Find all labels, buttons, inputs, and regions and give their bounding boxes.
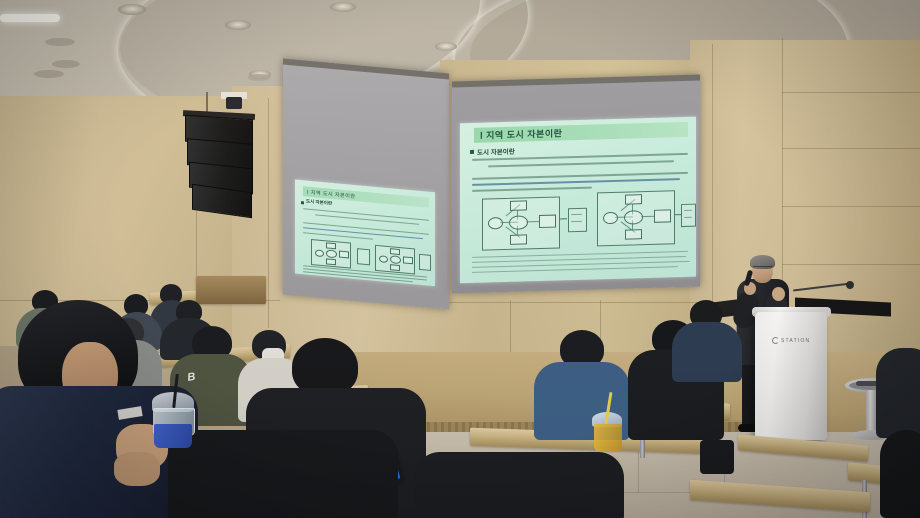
diagram-node: [539, 215, 556, 228]
ceiling-vent: [45, 38, 75, 46]
slide-left: Ⅰ 지역 도시 자본이란 도시 자본이란: [295, 180, 435, 287]
attendee-fingers-navy: [114, 452, 160, 486]
slide-subtitle: 도시 자본이란: [477, 146, 515, 157]
ceiling-vent: [34, 70, 64, 78]
jacket-logo: B: [187, 368, 216, 393]
wall-seam: [782, 264, 920, 265]
podium-logo: STATION: [772, 336, 820, 345]
ceiling-vent: [52, 60, 80, 68]
slide-body-line: [472, 178, 680, 186]
diagram-node: [510, 234, 527, 244]
slide-subtitle-left: 도시 자본이란: [306, 199, 332, 207]
diagram-node: [625, 229, 642, 239]
attendee-body: [880, 430, 920, 518]
presenter-hand-right: [772, 287, 785, 301]
diagram-node: [625, 194, 642, 204]
slide-title: Ⅰ 지역 도시 자본이란: [474, 122, 688, 143]
diagram-output-right: [681, 204, 696, 227]
podium-logo-text: STATION: [781, 338, 810, 344]
wall-seam: [440, 302, 710, 303]
iced-drink-cup-yellow: [594, 424, 622, 452]
ceiling-projector: [226, 97, 242, 109]
speaker-podium: [755, 312, 827, 440]
diagram-node: [510, 200, 527, 210]
slide-footnote-line: [472, 266, 678, 273]
back-wood-cabinet: [196, 276, 266, 304]
ceiling-downlight: [330, 2, 356, 12]
slide-body-line: [488, 160, 674, 167]
ceiling-downlight: [435, 42, 457, 51]
attendee-body: [672, 322, 742, 382]
slide-right: Ⅰ 지역 도시 자본이란 도시 자본이란: [460, 117, 696, 284]
ceiling-light-strip-5: [0, 14, 60, 22]
diagram-node: [654, 209, 671, 222]
ceiling-vent: [248, 74, 270, 81]
attendee-body: [876, 348, 920, 438]
wall-seam: [782, 92, 920, 93]
wall-seam: [782, 206, 920, 207]
glasses-icon: [753, 266, 772, 271]
projection-screen-left: Ⅰ 지역 도시 자본이란 도시 자본이란: [283, 58, 449, 309]
ceiling-downlight: [225, 20, 251, 30]
ceiling-downlight: [118, 4, 146, 15]
backpack: [700, 440, 734, 474]
projection-screen-right: Ⅰ 지역 도시 자본이란 도시 자본이란: [452, 75, 700, 294]
station-mark-icon: [772, 337, 779, 344]
slide-bullet-icon: [470, 150, 474, 154]
attendee-body-black: [168, 430, 398, 518]
wall-seam: [782, 148, 920, 149]
boom-microphone-head: [846, 281, 854, 289]
attendee-body-black-2: [414, 452, 624, 518]
slide-body-line: [472, 187, 592, 192]
lecture-hall-photo: 비상구 Ⅰ 지역 도시 자본이란 도시 자본이란: [0, 0, 920, 518]
wall-seam: [268, 98, 269, 328]
iced-drink-cup-blue: [154, 424, 192, 448]
